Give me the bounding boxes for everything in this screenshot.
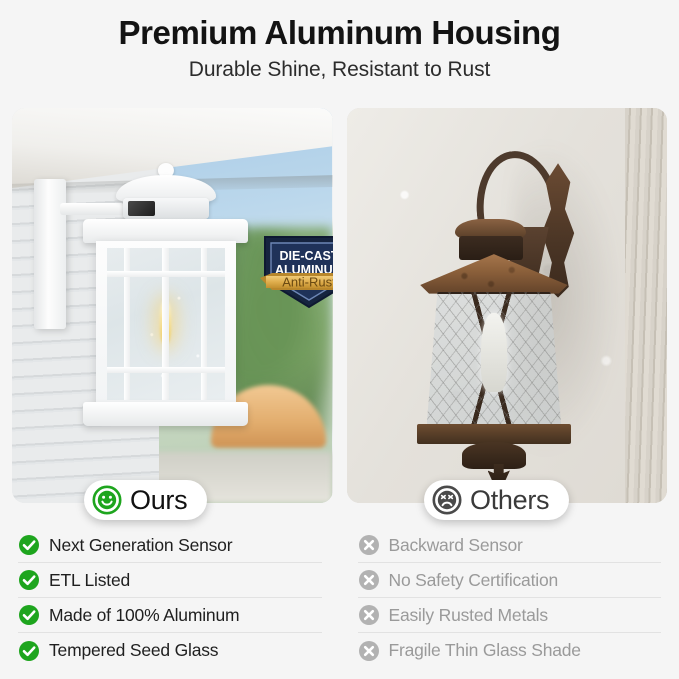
wood-plank (625, 108, 667, 503)
others-feature-list: Backward Sensor No Safety Certification … (340, 528, 679, 668)
list-item-label: Fragile Thin Glass Shade (389, 640, 581, 661)
list-item-label: Next Generation Sensor (49, 535, 232, 556)
check-circle-icon (18, 569, 40, 591)
list-item: Fragile Thin Glass Shade (358, 633, 662, 668)
comparison-panels: DIE-CAST ALUMINUM Anti-Rust (12, 108, 667, 503)
page-title: Premium Aluminum Housing (0, 14, 679, 53)
list-item-label: ETL Listed (49, 570, 130, 591)
white-lantern (76, 163, 255, 463)
x-circle-icon (358, 640, 380, 662)
lantern-body (96, 241, 236, 406)
ours-label-text: Ours (130, 487, 187, 514)
others-product-photo (347, 108, 668, 503)
ours-label-badge: Ours (84, 480, 207, 520)
ours-photo-panel: DIE-CAST ALUMINUM Anti-Rust (12, 108, 333, 503)
list-item: Backward Sensor (358, 528, 662, 563)
list-item: Next Generation Sensor (18, 528, 322, 563)
list-item-label: Easily Rusted Metals (389, 605, 548, 626)
mullion-horizontal (107, 271, 225, 277)
check-circle-icon (18, 604, 40, 626)
badge-ribbon-text: Anti-Rust (282, 275, 332, 290)
list-item-label: Backward Sensor (389, 535, 523, 556)
check-circle-icon (18, 534, 40, 556)
lantern-base (417, 424, 571, 444)
sad-face-icon (432, 485, 462, 515)
list-item-label: Made of 100% Aluminum (49, 605, 239, 626)
list-item: Made of 100% Aluminum (18, 598, 322, 633)
lantern-roof (83, 219, 248, 243)
ours-feature-list: Next Generation Sensor ETL Listed Made o… (0, 528, 340, 668)
others-label-badge: Others (424, 480, 569, 520)
mullion-horizontal (107, 367, 225, 373)
smiley-face-icon (92, 485, 122, 515)
list-item: No Safety Certification (358, 563, 662, 598)
x-circle-icon (358, 604, 380, 626)
badge-line1-text: DIE-CAST (279, 249, 332, 263)
x-circle-icon (358, 569, 380, 591)
others-photo-panel (347, 108, 668, 503)
list-item-label: No Safety Certification (389, 570, 559, 591)
others-label-text: Others (470, 487, 549, 514)
lantern-base (83, 402, 248, 426)
lantern-top-cap (455, 219, 526, 239)
light-bulb (481, 313, 507, 392)
x-circle-icon (358, 534, 380, 556)
wall-mount-plate (34, 179, 66, 329)
list-item: Easily Rusted Metals (358, 598, 662, 633)
sensor-lens (128, 201, 155, 217)
header: Premium Aluminum Housing Durable Shine, … (0, 0, 679, 82)
list-item: ETL Listed (18, 563, 322, 598)
die-cast-aluminum-badge: DIE-CAST ALUMINUM Anti-Rust (260, 234, 333, 310)
list-item: Tempered Seed Glass (18, 633, 322, 668)
feature-lists: Next Generation Sensor ETL Listed Made o… (0, 528, 679, 668)
check-circle-icon (18, 640, 40, 662)
page-subtitle: Durable Shine, Resistant to Rust (0, 58, 679, 82)
list-item-label: Tempered Seed Glass (49, 640, 218, 661)
